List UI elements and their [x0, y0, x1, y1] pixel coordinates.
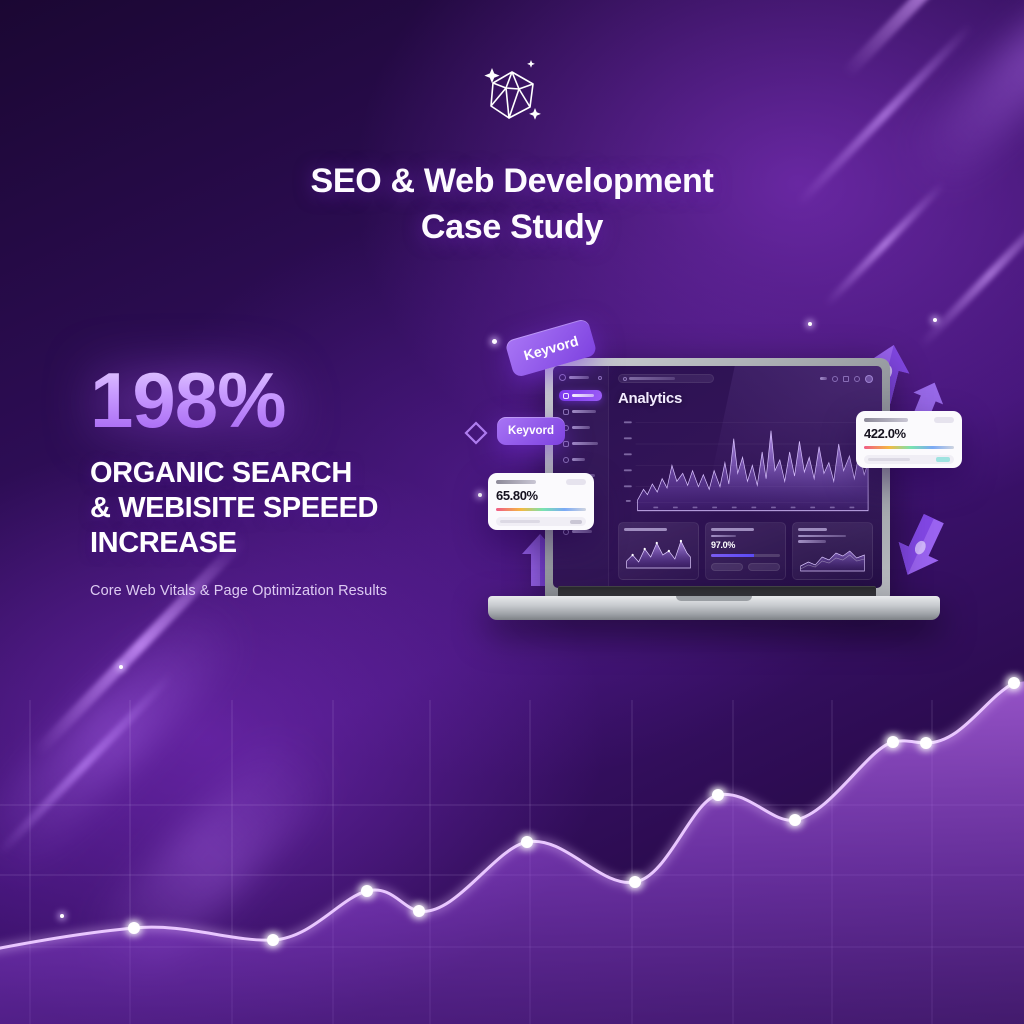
- dashboard-topbar: [618, 374, 873, 383]
- diamond-outline-icon: [463, 420, 489, 446]
- sidebar-item-label: [572, 442, 598, 445]
- page-speed-value: 65.80%: [496, 488, 586, 503]
- search-input[interactable]: [618, 374, 714, 383]
- header: SEO & Web Development Case Study: [0, 58, 1024, 250]
- poster-canvas: SEO & Web Development Case Study 198% OR…: [0, 0, 1024, 1024]
- bell-icon[interactable]: [832, 376, 838, 382]
- area-chart-icon: [624, 535, 693, 569]
- footer-label: [868, 458, 910, 461]
- dashboard-cards: 97.0%: [618, 522, 873, 580]
- score-bar: [864, 446, 954, 449]
- stat-headline-line-1: ORGANIC SEARCH: [90, 456, 490, 491]
- growth-area: [0, 678, 1024, 1024]
- stat-headline-line-2: & WEBISITE SPEEED: [90, 491, 490, 526]
- sidebar-item-dashboard[interactable]: [559, 390, 602, 401]
- arrow-up-right-icon: [892, 506, 952, 582]
- score-bar: [496, 508, 586, 511]
- data-point: [920, 737, 932, 749]
- keyword-pill-bottom[interactable]: Keyvord: [497, 417, 565, 445]
- data-point: [712, 789, 724, 801]
- brand-logo-icon: [559, 374, 566, 381]
- data-point: [887, 736, 899, 748]
- chart-icon: [563, 409, 569, 415]
- laptop-base: [488, 596, 940, 620]
- data-point: [1008, 677, 1020, 689]
- organic-traffic-card[interactable]: 422.0%: [856, 411, 962, 468]
- sidebar-item-analytics[interactable]: [559, 406, 602, 417]
- keyword-pill-top-label: Keyvord: [522, 333, 580, 364]
- page-title-line-2: Case Study: [0, 204, 1024, 250]
- help-icon[interactable]: [843, 376, 849, 382]
- card-title: [798, 528, 827, 531]
- tag-icon: [563, 441, 569, 447]
- sidebar-item-seo[interactable]: [559, 454, 602, 465]
- card-meta: [798, 540, 826, 543]
- sparkle-dot: [492, 339, 497, 344]
- collapse-icon[interactable]: [598, 376, 602, 380]
- search-placeholder: [629, 377, 675, 380]
- stat-subtitle: Core Web Vitals & Page Optimization Resu…: [90, 583, 490, 599]
- stat-headline: ORGANIC SEARCH & WEBISITE SPEEED INCREAS…: [90, 456, 490, 561]
- progress-bar: [711, 554, 780, 557]
- card-footer: [864, 455, 954, 464]
- card-chip: [566, 479, 586, 485]
- sidebar-item-label: [572, 530, 592, 533]
- sparkle-dot: [933, 318, 937, 322]
- card-buttons: [711, 563, 780, 571]
- data-point: [267, 934, 279, 946]
- data-point: [789, 814, 801, 826]
- data-point: [629, 876, 641, 888]
- dashboard-card-speed[interactable]: 97.0%: [705, 522, 786, 580]
- data-point: [413, 905, 425, 917]
- details-button[interactable]: [711, 563, 743, 571]
- card-label: [864, 418, 908, 422]
- search-icon: [623, 377, 627, 381]
- sidebar-item-label: [572, 426, 590, 429]
- laptop-lid: Analytics: [545, 358, 890, 598]
- brand-name: [569, 376, 589, 379]
- sidebar-item-traffic[interactable]: [559, 422, 602, 433]
- topbar-icons: [820, 375, 873, 383]
- card-subtitle: [798, 535, 846, 538]
- export-button[interactable]: [748, 563, 780, 571]
- grid-icon: [563, 393, 569, 399]
- logo: [0, 58, 1024, 132]
- footer-label: [500, 520, 540, 523]
- organic-traffic-value: 422.0%: [864, 426, 954, 441]
- diamond-gem-icon: [473, 58, 551, 132]
- dashboard-card-vitals[interactable]: [792, 522, 873, 580]
- page-speed-card[interactable]: 65.80%: [488, 473, 594, 530]
- card-value: 97.0%: [711, 540, 780, 550]
- stat-headline-line-3: INCREASE: [90, 526, 490, 561]
- sidebar-item-label: [572, 458, 585, 461]
- analytics-dashboard: Analytics: [553, 366, 882, 588]
- main-chart: [618, 412, 873, 516]
- page-title: SEO & Web Development Case Study: [0, 158, 1024, 250]
- search-icon: [563, 457, 569, 463]
- footer-chip: [936, 457, 950, 462]
- stat-block: 198% ORGANIC SEARCH & WEBISITE SPEEED IN…: [90, 358, 490, 599]
- sidebar-item-label: [572, 394, 594, 397]
- stat-value: 198%: [90, 358, 490, 442]
- card-chip: [934, 417, 954, 423]
- card-title: [624, 528, 667, 531]
- growth-chart: [0, 640, 1024, 1024]
- data-point: [521, 836, 533, 848]
- main-chart-svg: [618, 412, 873, 516]
- sidebar-item-label: [572, 410, 596, 413]
- line-chart-icon: [798, 546, 867, 572]
- card-label: [496, 480, 536, 484]
- dashboard-title: Analytics: [618, 390, 873, 407]
- laptop-screen: Analytics: [553, 366, 882, 588]
- footer-chip: [570, 520, 582, 524]
- card-footer: [496, 517, 586, 526]
- dashboard-brand: [559, 374, 602, 381]
- page-title-line-1: SEO & Web Development: [0, 158, 1024, 204]
- card-title: [711, 528, 754, 531]
- sparkle-dot: [808, 322, 812, 326]
- avatar[interactable]: [865, 375, 873, 383]
- grid-icon[interactable]: [854, 376, 860, 382]
- dashboard-main: Analytics: [609, 366, 882, 588]
- keyword-pill-bottom-label: Keyvord: [508, 425, 554, 437]
- menu-icon[interactable]: [820, 377, 827, 380]
- data-point: [361, 885, 373, 897]
- sidebar-item-keywords[interactable]: [559, 438, 602, 449]
- data-point: [128, 922, 140, 934]
- card-subtitle: [711, 535, 736, 538]
- dashboard-card-sessions[interactable]: [618, 522, 699, 580]
